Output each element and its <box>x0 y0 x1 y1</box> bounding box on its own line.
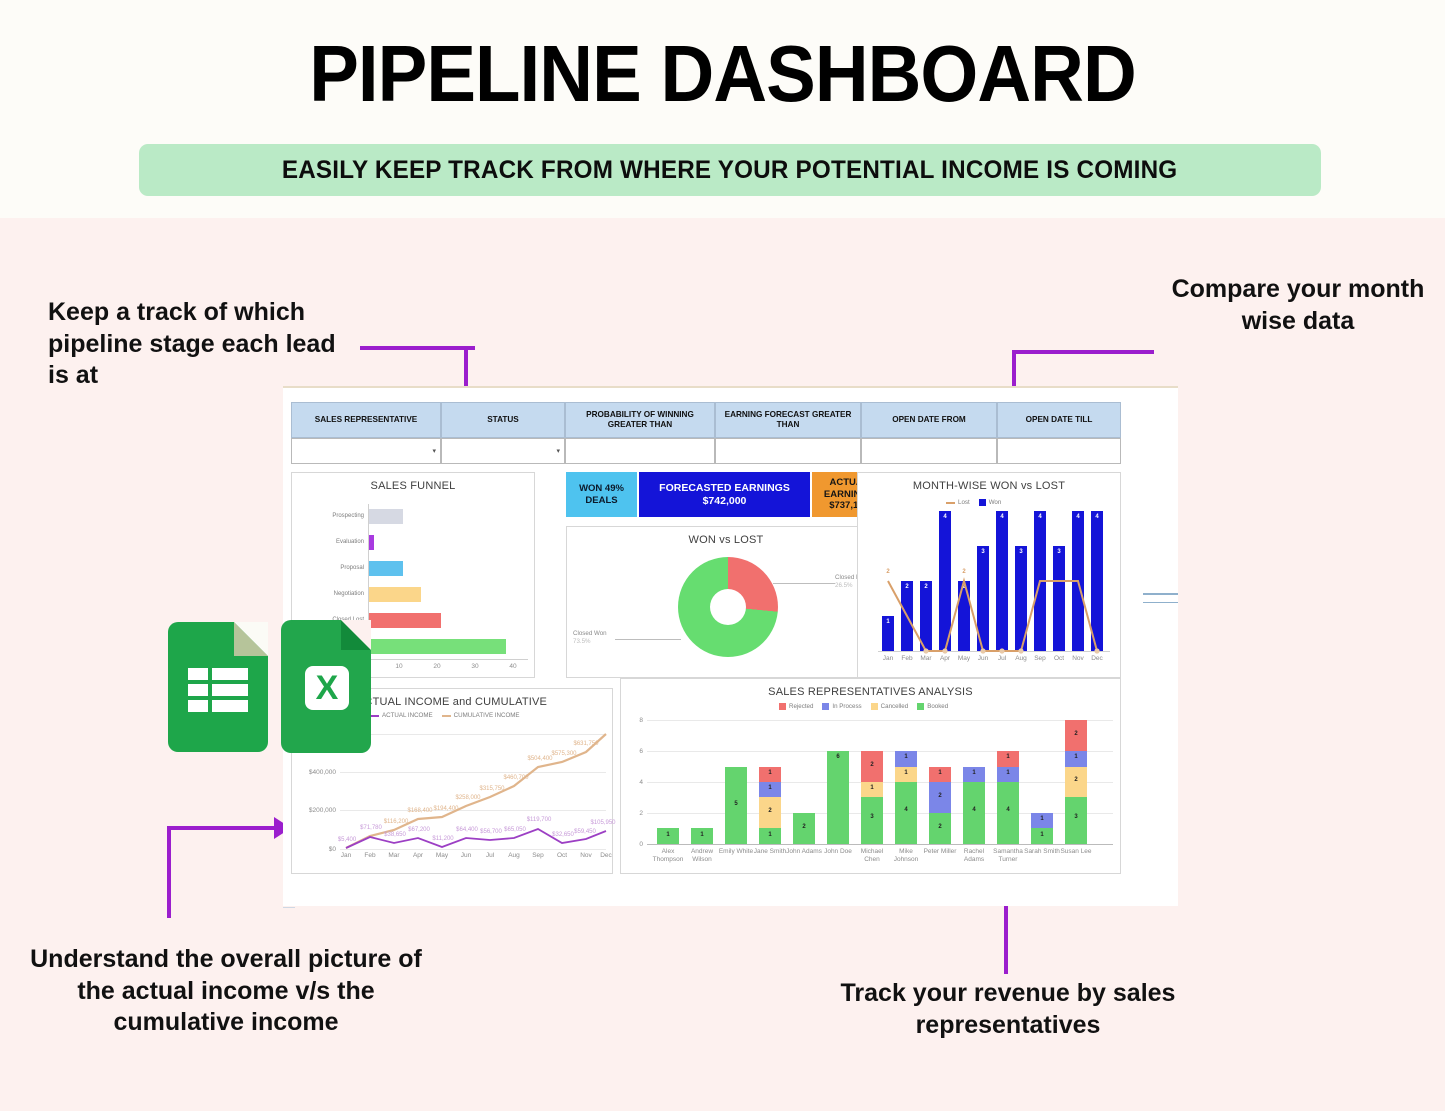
filter-header-sales-representative: SALES REPRESENTATIVE <box>291 402 441 438</box>
annotation-actual-vs-cumulative: Understand the overall picture of the ac… <box>26 944 426 1039</box>
funnel-x-tick: 40 <box>506 663 520 670</box>
reps-bar-value: 5 <box>725 801 747 807</box>
legend-label-rejected: Rejected <box>789 703 813 710</box>
annotation-arrow-topleft-h <box>360 346 475 350</box>
income-x-tick: Feb <box>362 852 378 859</box>
reps-bar-segment <box>997 782 1019 844</box>
reps-bar-value: 2 <box>793 824 815 830</box>
income-actual-label: $59,450 <box>566 829 604 835</box>
reps-x-tick: Mike Johnson <box>888 848 924 864</box>
panel-bottom-tab <box>283 900 295 908</box>
annotation-arrow-bottomleft-h <box>167 826 277 830</box>
reps-bar-value: 1 <box>691 832 713 838</box>
month-tick: Mar <box>918 655 934 662</box>
funnel-x-tick: 10 <box>392 663 406 670</box>
income-x-tick: Jan <box>338 852 354 859</box>
legend-label-cancelled: Cancelled <box>881 703 909 710</box>
income-cumulative-label: $315,750 <box>472 786 512 792</box>
income-x-tick: Oct <box>554 852 570 859</box>
legend-key-booked: Booked <box>917 703 948 710</box>
income-x-tick: Nov <box>578 852 594 859</box>
filter-value-row: ▾ ▾ <box>291 438 1121 464</box>
excel-icon: X <box>281 620 371 753</box>
donut-leader-lost <box>773 583 835 584</box>
reps-y-tick: 4 <box>625 779 643 786</box>
reps-bar-value: 1 <box>895 770 917 776</box>
funnel-bar-prospecting <box>369 509 403 524</box>
kpi-forecasted-earnings: FORECASTED EARNINGS $742,000 <box>639 472 810 517</box>
donut-leader-won <box>615 639 681 640</box>
month-wise-card: MONTH-WISE WON vs LOST Lost Won 1 2 <box>857 472 1121 678</box>
reps-bar-value: 1 <box>759 785 781 791</box>
reps-bar-value: 6 <box>827 754 849 760</box>
sales-reps-legend: Rejected In Process Cancelled Booked <box>779 703 948 710</box>
income-actual-label: $71,780 <box>352 825 390 831</box>
reps-bar-value: 4 <box>997 807 1019 813</box>
funnel-bar-proposal <box>369 561 403 576</box>
month-tick: Aug <box>1013 655 1029 662</box>
income-actual-label: $65,050 <box>496 827 534 833</box>
legend-label-booked: Booked <box>927 703 948 710</box>
filter-input-probability[interactable] <box>565 438 715 464</box>
sheets-table-glyph <box>188 668 248 716</box>
month-tick: Nov <box>1070 655 1086 662</box>
chevron-down-icon[interactable]: ▾ <box>556 447 560 455</box>
legend-key-cancelled: Cancelled <box>871 703 909 710</box>
sales-funnel-title: SALES FUNNEL <box>292 473 534 492</box>
funnel-category-label: Negotiation <box>300 591 364 597</box>
reps-bar-segment <box>861 797 883 844</box>
reps-bar-segment <box>895 782 917 844</box>
reps-x-tick: John Adams <box>786 848 822 856</box>
sheets-fold <box>234 622 268 656</box>
filter-input-open-date-from[interactable] <box>861 438 997 464</box>
income-x-tick: May <box>434 852 450 859</box>
kpi-forecast-value: $742,000 <box>703 495 747 508</box>
income-cumulative-label: $460,700 <box>496 775 536 781</box>
filter-input-status[interactable]: ▾ <box>441 438 565 464</box>
annotation-arrow-topright-h <box>1012 350 1154 354</box>
income-x-tick: Apr <box>410 852 426 859</box>
income-actual-label: $11,200 <box>424 836 462 842</box>
reps-bar-value: 1 <box>759 832 781 838</box>
filter-header-status: STATUS <box>441 402 565 438</box>
funnel-bar-closed-won <box>369 639 506 654</box>
filter-header-probability: PROBABILITY OF WINNING GREATER THAN <box>565 402 715 438</box>
reps-x-tick: Jane Smith <box>752 848 788 856</box>
reps-bar-segment <box>963 782 985 844</box>
sales-reps-card: SALES REPRESENTATIVES ANALYSIS Rejected … <box>620 678 1121 874</box>
annotation-month-wise: Compare your month wise data <box>1158 274 1438 337</box>
annotation-pipeline-stage: Keep a track of which pipeline stage eac… <box>48 297 358 392</box>
reps-bar-value: 2 <box>1065 731 1087 737</box>
excel-x-badge: X <box>305 666 349 710</box>
reps-bar-value: 1 <box>895 754 917 760</box>
reps-bar-value: 3 <box>861 814 883 820</box>
reps-bar-value: 2 <box>929 824 951 830</box>
kpi-won-value: DEALS <box>585 495 617 506</box>
dashboard-panel: SALES REPRESENTATIVE STATUS PROBABILITY … <box>283 386 1178 906</box>
donut-label-won-text: Closed Won <box>573 630 607 638</box>
reps-bar-value: 1 <box>861 785 883 791</box>
legend-swatch-in-process <box>822 703 829 710</box>
reps-bar-segment <box>827 751 849 844</box>
reps-bar-value: 1 <box>1031 832 1053 838</box>
reps-bar-value: 2 <box>929 793 951 799</box>
income-cumulative-label: $116,200 <box>376 819 416 825</box>
won-vs-lost-card: WON vs LOST Closed Lost 26.5% Closed Won… <box>566 526 886 678</box>
filter-input-earning-forecast[interactable] <box>715 438 861 464</box>
reps-bar-value: 4 <box>895 807 917 813</box>
donut-label-closed-won: Closed Won 73.5% <box>573 630 607 646</box>
excel-x-letter: X <box>316 669 339 708</box>
legend-key-rejected: Rejected <box>779 703 813 710</box>
funnel-category-label: Prospecting <box>300 513 364 519</box>
kpi-won-label: WON 49% <box>579 483 624 494</box>
chevron-down-icon[interactable]: ▾ <box>432 447 436 455</box>
kpi-forecast-label: FORECASTED EARNINGS <box>659 482 790 495</box>
month-tick: Feb <box>899 655 915 662</box>
income-cumulative-label: $575,300 <box>544 751 584 757</box>
income-cumulative-label: $194,400 <box>426 806 466 812</box>
funnel-category-label: Evaluation <box>300 539 364 545</box>
filter-header-row: SALES REPRESENTATIVE STATUS PROBABILITY … <box>291 402 1121 438</box>
month-wise-lost-line <box>858 473 1122 679</box>
reps-y-tick: 6 <box>625 748 643 755</box>
donut-label-won-value: 73.5% <box>573 638 607 646</box>
sales-reps-title: SALES REPRESENTATIVES ANALYSIS <box>621 679 1120 698</box>
funnel-category-label: Proposal <box>300 565 364 571</box>
income-actual-label: $105,950 <box>584 820 622 826</box>
reps-bar-value: 1 <box>963 770 985 776</box>
annotation-sales-reps: Track your revenue by sales representati… <box>833 978 1183 1041</box>
legend-swatch-cancelled <box>871 703 878 710</box>
reps-bar-value: 2 <box>759 808 781 814</box>
filter-header-earning-forecast: EARNING FORECAST GREATER THAN <box>715 402 861 438</box>
filter-bar: SALES REPRESENTATIVE STATUS PROBABILITY … <box>291 402 1121 464</box>
month-tick: Jun <box>975 655 991 662</box>
reps-x-tick: Rachel Adams <box>956 848 992 864</box>
legend-swatch-rejected <box>779 703 786 710</box>
reps-bar-value: 1 <box>657 832 679 838</box>
reps-bar-value: 1 <box>997 754 1019 760</box>
reps-x-tick: Emily White <box>718 848 754 856</box>
filter-input-open-date-till[interactable] <box>997 438 1121 464</box>
subtitle-pill: EASILY KEEP TRACK FROM WHERE YOUR POTENT… <box>139 144 1321 196</box>
panel-edge-line <box>1143 593 1178 595</box>
page-title: PIPELINE DASHBOARD <box>51 34 1395 114</box>
month-lost-value: 2 <box>958 569 970 575</box>
income-x-tick: Jun <box>458 852 474 859</box>
filter-input-sales-representative[interactable]: ▾ <box>291 438 441 464</box>
income-x-tick: Jul <box>482 852 498 859</box>
legend-swatch-booked <box>917 703 924 710</box>
income-x-tick: Aug <box>506 852 522 859</box>
month-tick: Apr <box>937 655 953 662</box>
won-vs-lost-title: WON vs LOST <box>567 527 885 546</box>
funnel-bar-closed-lost <box>369 613 441 628</box>
reps-y-tick: 0 <box>625 841 643 848</box>
reps-gridline <box>647 844 1113 845</box>
month-tick: Oct <box>1051 655 1067 662</box>
reps-bar-value: 1 <box>1065 754 1087 760</box>
reps-bar-value: 2 <box>1065 777 1087 783</box>
reps-x-tick: Alex Thompson <box>650 848 686 864</box>
funnel-x-tick: 20 <box>430 663 444 670</box>
filter-header-open-date-till: OPEN DATE TILL <box>997 402 1121 438</box>
month-lost-value: 2 <box>882 569 894 575</box>
reps-bar-segment <box>1065 797 1087 844</box>
legend-label-in-process: In Process <box>832 703 861 710</box>
reps-x-tick: Andrew Wilson <box>684 848 720 864</box>
google-sheets-icon <box>168 622 268 752</box>
reps-x-tick: Michael Chen <box>854 848 890 864</box>
income-x-tick: Sep <box>530 852 546 859</box>
income-x-tick: Dec <box>598 852 614 859</box>
reps-bar-value: 1 <box>759 770 781 776</box>
funnel-bar-negotiation <box>369 587 421 602</box>
excel-fold <box>341 620 371 650</box>
reps-x-tick: Sarah Smith <box>1024 848 1060 856</box>
reps-x-tick: Samantha Turner <box>990 848 1026 864</box>
reps-bar-value: 1 <box>929 770 951 776</box>
funnel-x-axis <box>368 659 528 660</box>
kpi-won-deals: WON 49% DEALS <box>566 472 637 517</box>
donut-hole <box>710 589 746 625</box>
reps-x-tick: John Doe <box>820 848 856 856</box>
income-actual-label: $119,700 <box>520 817 558 823</box>
reps-gridline <box>647 720 1113 721</box>
reps-bar-value: 1 <box>1031 816 1053 822</box>
funnel-bar-evaluation <box>369 535 374 550</box>
reps-x-tick: Susan Lee <box>1058 848 1094 856</box>
income-cumulative-label: $631,750 <box>566 741 606 747</box>
income-x-tick: Mar <box>386 852 402 859</box>
month-tick: Dec <box>1089 655 1105 662</box>
month-tick: Jan <box>880 655 896 662</box>
reps-y-tick: 2 <box>625 810 643 817</box>
reps-bar-value: 2 <box>861 762 883 768</box>
reps-x-tick: Peter Miller <box>922 848 958 856</box>
month-tick: Sep <box>1032 655 1048 662</box>
income-cumulative-label: $258,000 <box>448 795 488 801</box>
subtitle-text: EASILY KEEP TRACK FROM WHERE YOUR POTENT… <box>282 156 1178 185</box>
reps-bar-value: 4 <box>963 807 985 813</box>
reps-bar-value: 1 <box>997 770 1019 776</box>
panel-edge-line <box>1143 602 1178 603</box>
annotation-arrow-bottomleft-v <box>167 826 171 918</box>
income-actual-label: $5,400 <box>328 837 366 843</box>
income-actual-label: $67,200 <box>400 827 438 833</box>
reps-bar-value: 3 <box>1065 814 1087 820</box>
filter-header-open-date-from: OPEN DATE FROM <box>861 402 997 438</box>
funnel-x-tick: 30 <box>468 663 482 670</box>
month-tick: May <box>956 655 972 662</box>
month-tick: Jul <box>994 655 1010 662</box>
legend-key-in-process: In Process <box>822 703 861 710</box>
reps-y-tick: 8 <box>625 717 643 724</box>
